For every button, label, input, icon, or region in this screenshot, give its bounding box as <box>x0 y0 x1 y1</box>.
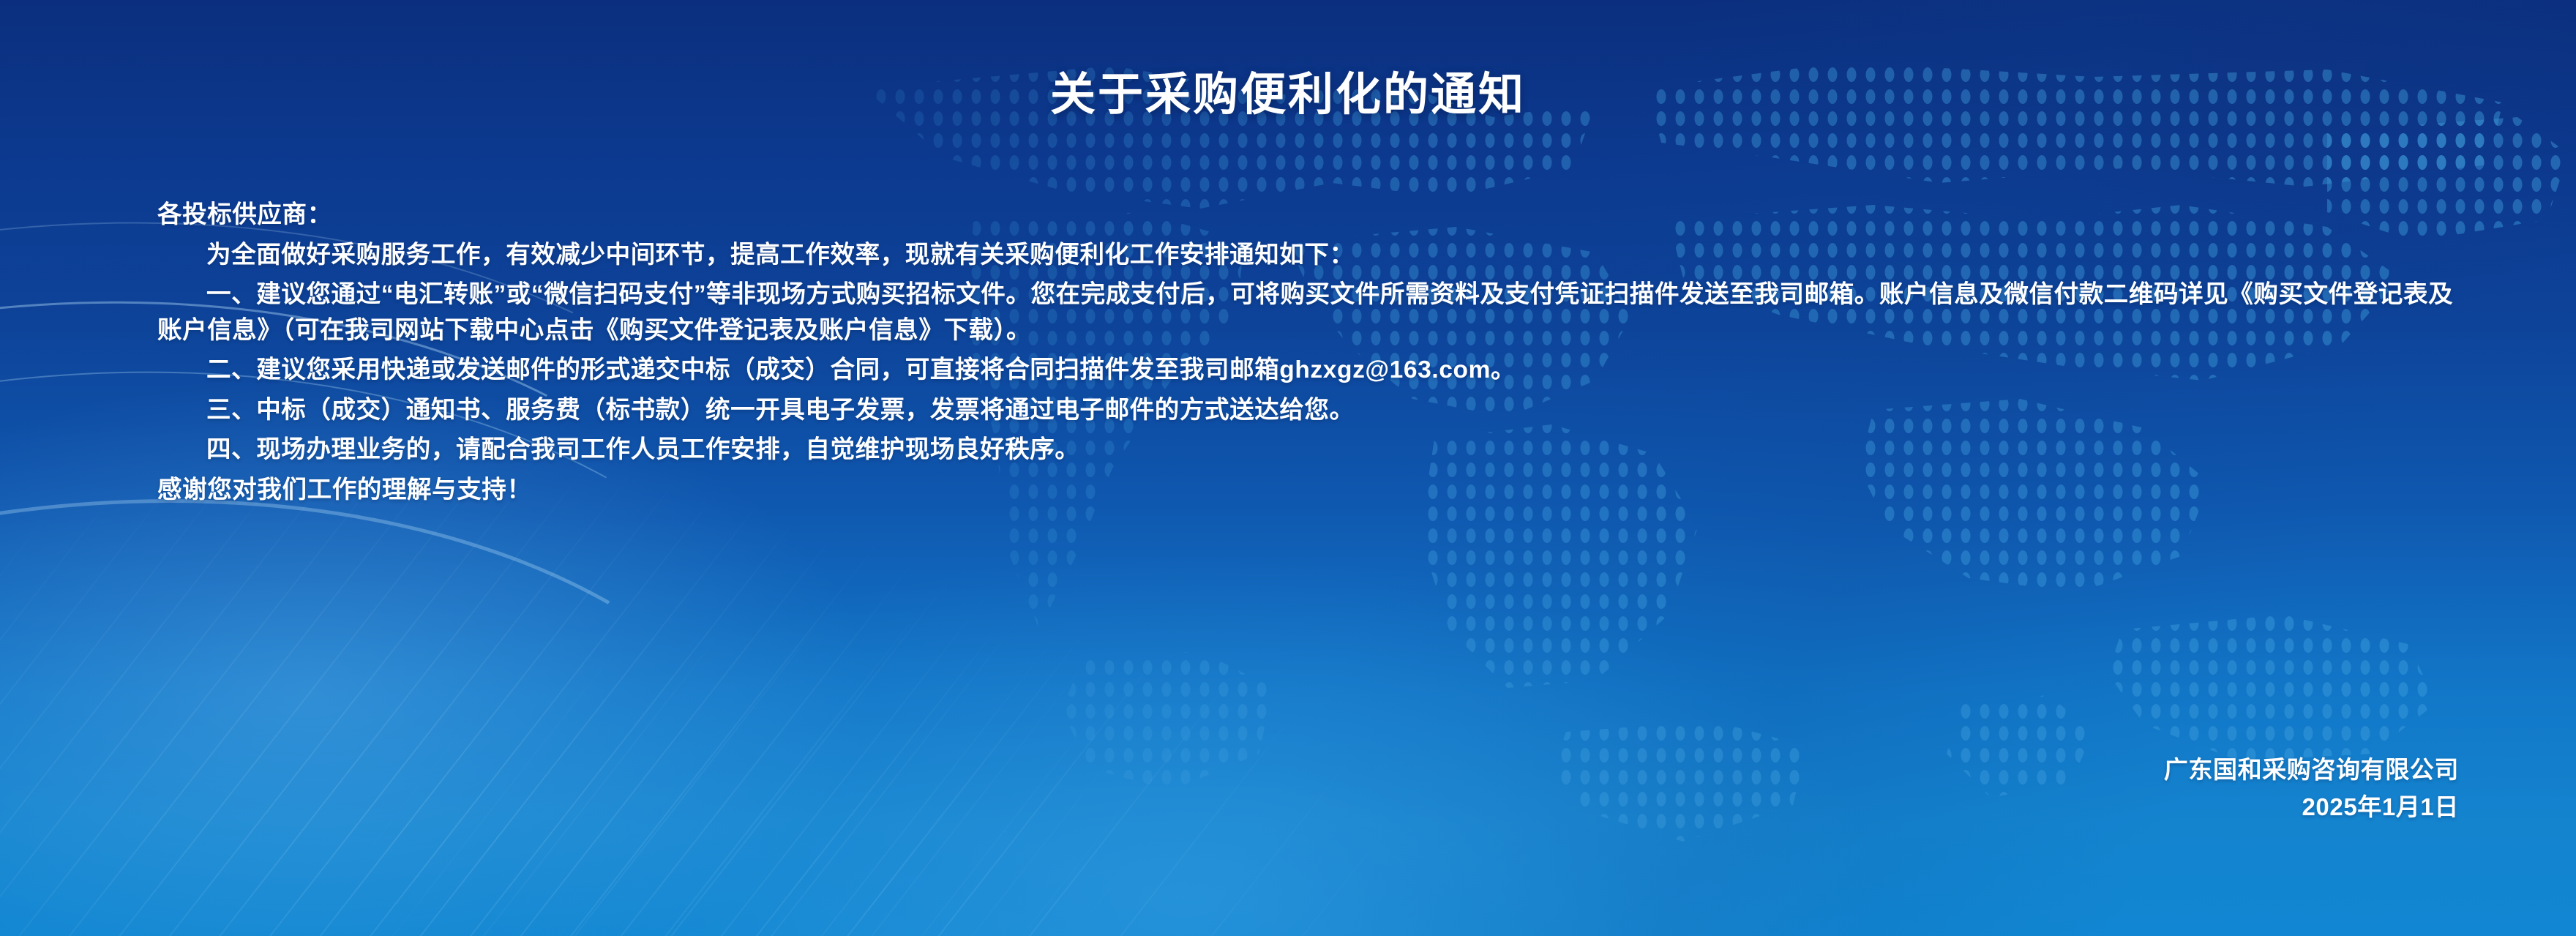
notice-banner: 关于采购便利化的通知 各投标供应商： 为全面做好采购服务工作，有效减少中间环节，… <box>0 0 2576 936</box>
signature-company: 广东国和采购咨询有限公司 <box>2164 751 2459 788</box>
notice-item-1: 一、建议您通过“电汇转账”或“微信扫码支付”等非现场方式购买招标文件。您在完成支… <box>157 277 2459 348</box>
notice-item-4: 四、现场办理业务的，请配合我司工作人员工作安排，自觉维护现场良好秩序。 <box>157 433 2459 468</box>
notice-body: 各投标供应商： 为全面做好采购服务工作，有效减少中间环节，提高工作效率，现就有关… <box>157 198 2459 513</box>
closing-line: 感谢您对我们工作的理解与支持！ <box>157 473 2459 509</box>
preamble-paragraph: 为全面做好采购服务工作，有效减少中间环节，提高工作效率，现就有关采购便利化工作安… <box>157 238 2459 274</box>
page-title: 关于采购便利化的通知 <box>0 57 2576 123</box>
signature-date: 2025年1月1日 <box>2164 788 2459 825</box>
salutation-line: 各投标供应商： <box>157 198 2459 233</box>
notice-document: 关于采购便利化的通知 各投标供应商： 为全面做好采购服务工作，有效减少中间环节，… <box>0 0 2576 936</box>
notice-item-2: 二、建议您采用快递或发送邮件的形式递交中标（成交）合同，可直接将合同扫描件发至我… <box>157 353 2459 389</box>
signature-block: 广东国和采购咨询有限公司 2025年1月1日 <box>2164 751 2459 825</box>
notice-item-3: 三、中标（成交）通知书、服务费（标书款）统一开具电子发票，发票将通过电子邮件的方… <box>157 393 2459 429</box>
